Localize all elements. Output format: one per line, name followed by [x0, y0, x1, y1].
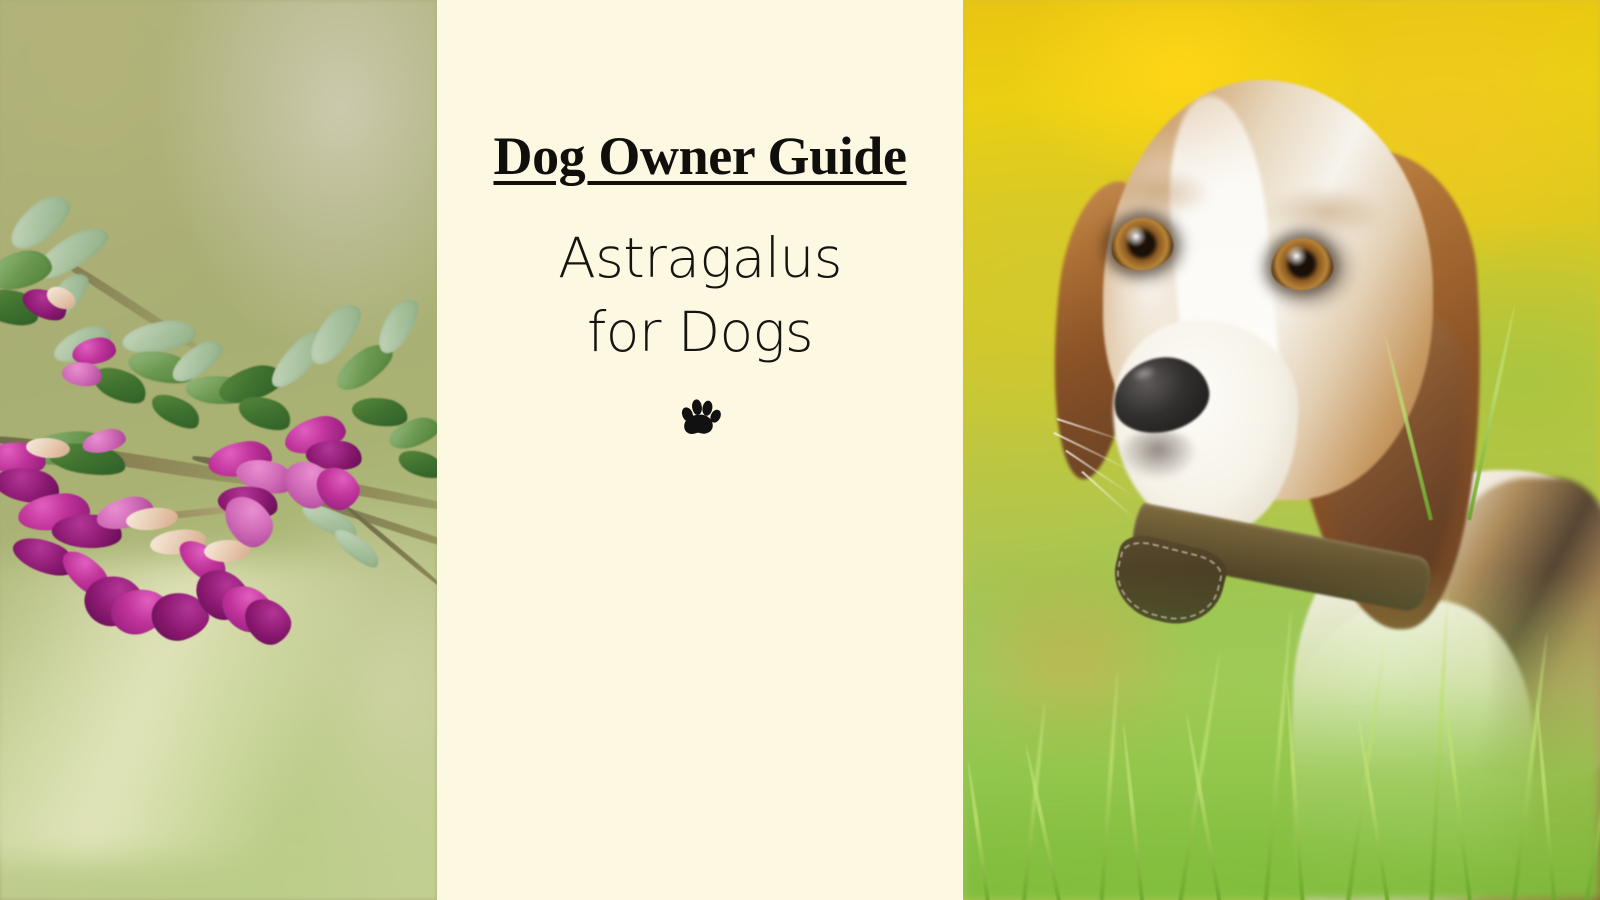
paw-print-icon — [437, 395, 963, 443]
title-block: Dog Owner Guide Astragalus for Dogs — [437, 0, 963, 443]
guide-headline: Astragalus for Dogs — [437, 221, 963, 370]
left-photo-astragalus — [0, 0, 437, 900]
guide-banner: Dog Owner Guide Astragalus for Dogs — [0, 0, 1600, 900]
dog-mouth — [1118, 430, 1198, 480]
right-photo-beagle — [963, 0, 1600, 900]
guide-title: Dog Owner Guide — [437, 128, 963, 185]
title-card: Dog Owner Guide Astragalus for Dogs — [437, 0, 963, 900]
